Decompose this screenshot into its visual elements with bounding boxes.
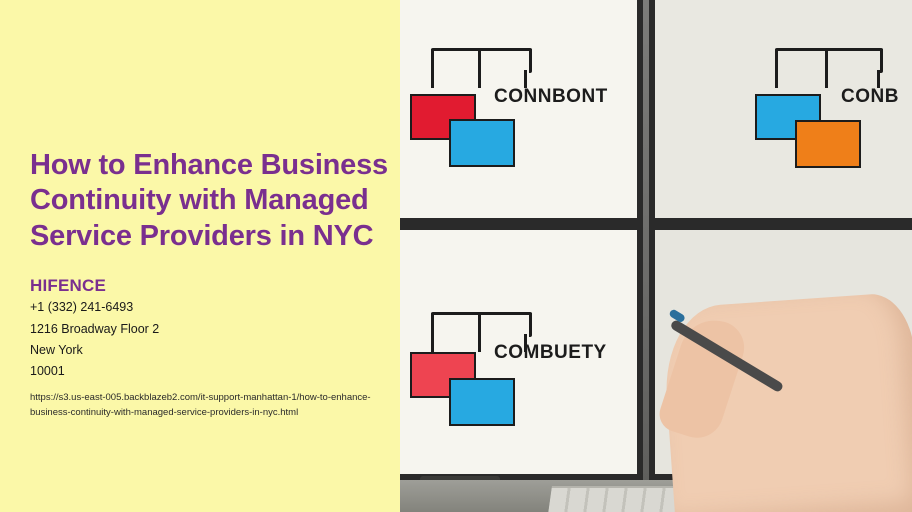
diagram-tick [478,48,481,88]
screen-content: CONNBONT [400,0,637,218]
photo-panel: CONNBONT CONB CO [400,0,912,512]
address-zip: 10001 [30,362,402,381]
monitor-screen-bottom-left: COMBUETY [400,224,643,480]
phone-number: +1 (332) 241-6493 [30,298,402,317]
diagram-box-orange [795,120,861,168]
text-block: How to Enhance Business Continuity with … [30,148,402,421]
diagram-brace [431,312,532,337]
diagram-box-blue [449,378,515,426]
left-text-panel: How to Enhance Business Continuity with … [0,0,400,512]
diagram-tick [478,312,481,352]
diagram-box-blue [449,119,515,167]
monitor-screen-top-left: CONNBONT [400,0,643,224]
page-title: How to Enhance Business Continuity with … [30,148,402,254]
address-city: New York [30,341,402,360]
address-street: 1216 Broadway Floor 2 [30,320,402,339]
diagram-tick [775,70,778,88]
screen-label-top-right: CONB [841,86,899,108]
diagram-tick [431,334,434,352]
screen-content: CONB [655,0,912,218]
diagram-brace [431,48,532,73]
brand-name: HIFENCE [30,276,402,296]
diagram-brace [775,48,883,73]
poster-page: How to Enhance Business Continuity with … [0,0,912,512]
monitor-screen-top-right: CONB [649,0,912,224]
source-url: https://s3.us-east-005.backblazeb2.com/i… [30,390,375,421]
diagram-tick [825,48,828,88]
screen-label-top-left: CONNBONT [494,86,608,108]
screen-content: COMBUETY [400,230,637,474]
diagram-tick [431,70,434,88]
screen-label-bottom-left: COMBUETY [494,342,607,364]
